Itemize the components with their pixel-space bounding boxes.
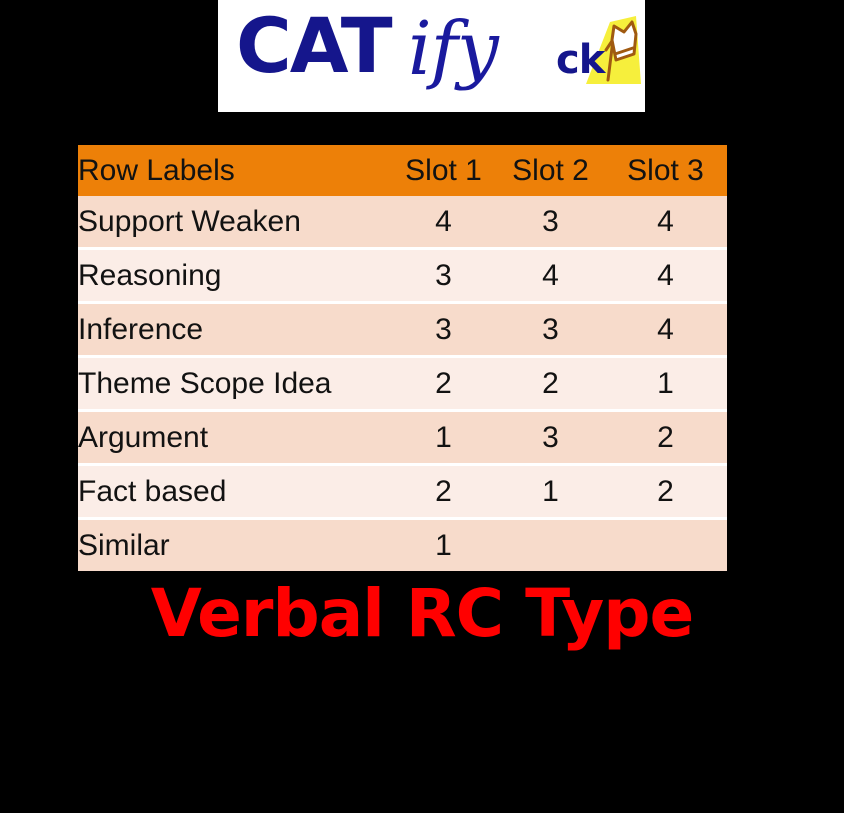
- logo-ck-group: ck: [556, 14, 642, 98]
- brand-wordmark: CAT ify: [236, 6, 556, 106]
- cell-slot-3: 1: [604, 357, 727, 411]
- row-label: Inference: [78, 303, 390, 357]
- cell-slot-2: 3: [497, 303, 604, 357]
- cell-slot-1: 2: [390, 357, 497, 411]
- column-header-row-labels[interactable]: Row Labels: [78, 145, 390, 196]
- column-header-slot-3[interactable]: Slot 3: [604, 145, 727, 196]
- table-body: Support Weaken 4 3 4 Reasoning 3 4 4 Inf…: [78, 196, 727, 571]
- table-row: Reasoning 3 4 4: [78, 249, 727, 303]
- cell-slot-1: 3: [390, 303, 497, 357]
- row-label: Similar: [78, 519, 390, 572]
- table-header-row: Row Labels Slot 1 Slot 2 Slot 3: [78, 145, 727, 196]
- cell-slot-3: 4: [604, 303, 727, 357]
- cell-slot-2: 2: [497, 357, 604, 411]
- cell-slot-1: 1: [390, 411, 497, 465]
- column-header-slot-1[interactable]: Slot 1: [390, 145, 497, 196]
- table-row: Similar 1: [78, 519, 727, 572]
- cell-slot-2: 3: [497, 411, 604, 465]
- cell-slot-1: 2: [390, 465, 497, 519]
- brand-logo-plate: CAT ify ck: [218, 0, 645, 112]
- column-header-slot-2[interactable]: Slot 2: [497, 145, 604, 196]
- table-header: Row Labels Slot 1 Slot 2 Slot 3: [78, 145, 727, 196]
- table-row: Fact based 2 1 2: [78, 465, 727, 519]
- table-row: Support Weaken 4 3 4: [78, 196, 727, 249]
- cell-slot-1: 3: [390, 249, 497, 303]
- cell-slot-3: 4: [604, 196, 727, 249]
- cell-slot-2: 1: [497, 465, 604, 519]
- cell-slot-3: 2: [604, 411, 727, 465]
- cell-slot-1: 4: [390, 196, 497, 249]
- logo-cat-text: CAT: [236, 8, 391, 84]
- row-label: Reasoning: [78, 249, 390, 303]
- table-row: Argument 1 3 2: [78, 411, 727, 465]
- row-label: Fact based: [78, 465, 390, 519]
- cell-slot-2: [497, 519, 604, 572]
- logo-ck-text: ck: [556, 40, 604, 80]
- row-label: Argument: [78, 411, 390, 465]
- table-row: Inference 3 3 4: [78, 303, 727, 357]
- cell-slot-2: 4: [497, 249, 604, 303]
- chart-caption-title: Verbal RC Type: [0, 576, 844, 652]
- cell-slot-3: 2: [604, 465, 727, 519]
- cell-slot-3: [604, 519, 727, 572]
- row-label: Theme Scope Idea: [78, 357, 390, 411]
- cell-slot-1: 1: [390, 519, 497, 572]
- table-row: Theme Scope Idea 2 2 1: [78, 357, 727, 411]
- logo-ify-text: ify: [408, 12, 498, 86]
- row-label: Support Weaken: [78, 196, 390, 249]
- pivot-table: Row Labels Slot 1 Slot 2 Slot 3 Support …: [78, 145, 727, 571]
- cell-slot-3: 4: [604, 249, 727, 303]
- cell-slot-2: 3: [497, 196, 604, 249]
